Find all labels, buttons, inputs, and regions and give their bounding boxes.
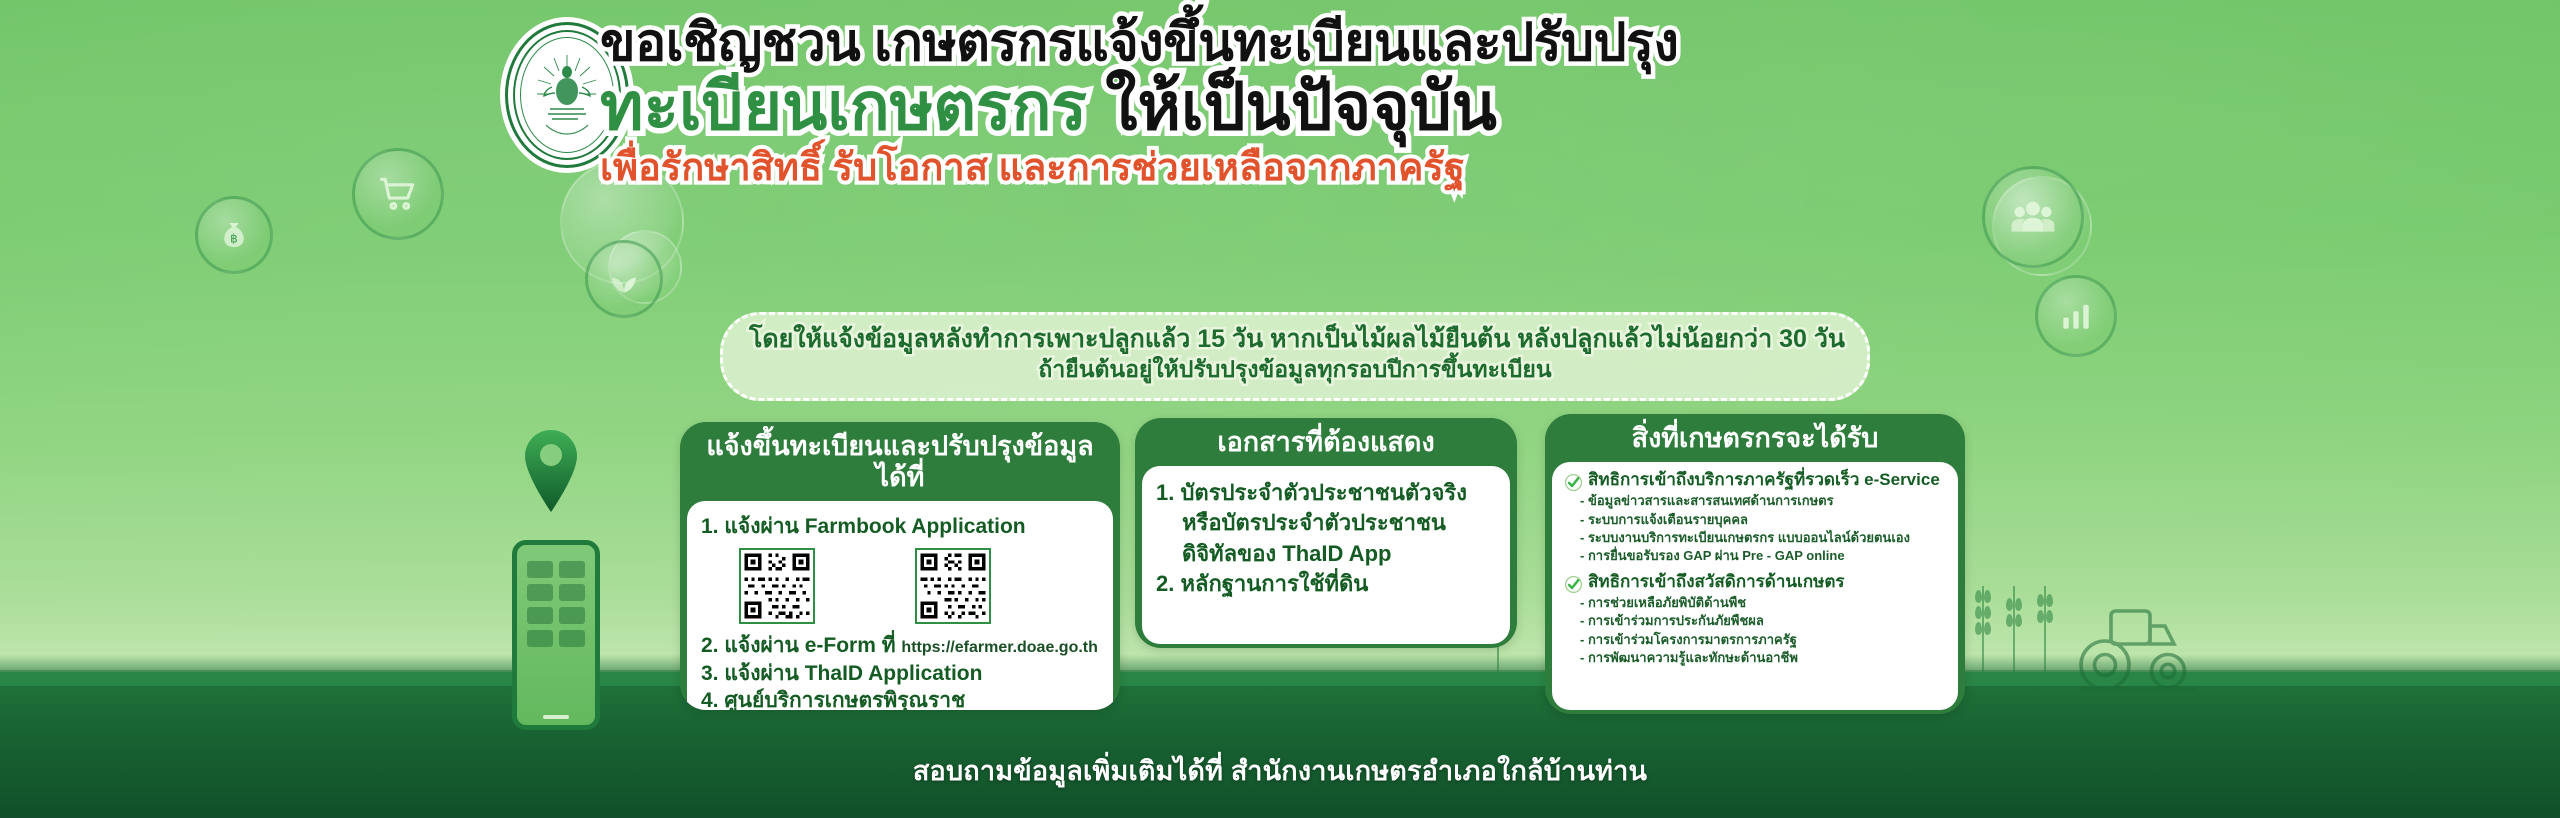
card-benefits-heading: สิ่งที่เกษตรกรจะได้รับ [1545, 414, 1965, 462]
benefit-group-2-title: สิทธิการเข้าถึงสวัสดิการด้านเกษตร [1588, 572, 1845, 592]
card-register-body: 1. แจ้งผ่าน Farmbook Application [687, 501, 1113, 710]
benefit-1-bullet-3: - ระบบงานบริการทะเบียนเกษตรกร แบบออนไลน์… [1564, 529, 1946, 547]
title-line-1: ขอเชิญชวน เกษตรกรแจ้งขึ้นทะเบียนและปรับป… [600, 14, 2440, 72]
app-tile [527, 607, 553, 624]
card-documents-heading: เอกสารที่ต้องแสดง [1135, 418, 1517, 466]
benefit-2-bullet-2: - การเข้าร่วมการประกันภัยพืชผล [1564, 612, 1946, 630]
qr-row: Android [739, 548, 1099, 624]
app-tile [559, 630, 585, 647]
document-item-1a: 1. บัตรประจำตัวประชาชนตัวจริง [1156, 478, 1496, 508]
benefit-1-bullet-2: - ระบบการแจ้งเตือนรายบุคคล [1564, 511, 1946, 529]
phone-home-indicator [543, 715, 569, 719]
card-required-documents: เอกสารที่ต้องแสดง 1. บัตรประจำตัวประชาชน… [1135, 418, 1517, 648]
smartphone-icon [512, 540, 600, 730]
efarmer-url[interactable]: https://efarmer.doae.go.th [901, 639, 1097, 656]
qr-ios-group[interactable]: iOS [915, 548, 1043, 624]
title-line-2-green: ทะเบียนเกษตรกร [600, 69, 1087, 143]
benefit-group-1-title: สิทธิการเข้าถึงบริการภาครัฐที่รวดเร็ว e-… [1588, 470, 1940, 490]
app-tile [559, 607, 585, 624]
wheat-icon [1975, 586, 1991, 672]
card-register-channels: แจ้งขึ้นทะเบียนและปรับปรุงข้อมูลได้ที่ 1… [680, 422, 1120, 710]
register-item-2: 2. แจ้งผ่าน e-Form ที่ https://efarmer.d… [701, 632, 1099, 660]
app-tile [527, 584, 553, 601]
benefit-1-bullet-4: - การยื่นขอรับรอง GAP ผ่าน Pre - GAP onl… [1564, 547, 1946, 565]
document-item-1b: หรือบัตรประจำตัวประชาชน [1156, 508, 1496, 538]
app-tile [559, 561, 585, 578]
document-item-1c: ดิจิทัลของ ThaID App [1156, 539, 1496, 569]
note-banner: โดยให้แจ้งข้อมูลหลังทำการเพาะปลูกแล้ว 15… [720, 312, 1870, 401]
check-mark-icon [1564, 575, 1583, 594]
register-item-2-prefix: 2. แจ้งผ่าน e-Form ที่ [701, 634, 901, 657]
benefit-group-2-head: สิทธิการเข้าถึงสวัสดิการด้านเกษตร [1564, 572, 1946, 594]
header: ขอเชิญชวน เกษตรกรแจ้งขึ้นทะเบียนและปรับป… [0, 0, 2560, 300]
wheat-icon [2006, 586, 2022, 672]
card-benefits-body: สิทธิการเข้าถึงบริการภาครัฐที่รวดเร็ว e-… [1552, 462, 1958, 710]
register-item-3: 3. แจ้งผ่าน ThaID Application [701, 660, 1099, 688]
app-tile [527, 561, 553, 578]
title-line-2: ทะเบียนเกษตรกร ให้เป็นปัจจุบัน [600, 70, 2440, 143]
phone-app-grid [517, 545, 595, 663]
note-line-2: ถ้ายืนต้นอยู่ให้ปรับปรุงข้อมูลทุกรอบปีกา… [749, 355, 1841, 385]
benefit-2-bullet-3: - การเข้าร่วมโครงการมาตรการภาครัฐ [1564, 631, 1946, 649]
wheat-icon [2037, 586, 2053, 672]
qr-android-group[interactable]: Android [739, 548, 899, 624]
wheat-cluster-right [1975, 586, 2053, 672]
title-line-3: เพื่อรักษาสิทธิ์ รับโอกาส และการช่วยเหลื… [600, 147, 2440, 191]
card-register-heading: แจ้งขึ้นทะเบียนและปรับปรุงข้อมูลได้ที่ [680, 422, 1120, 501]
check-mark-icon [1564, 473, 1583, 492]
footer-contact-text: สอบถามข้อมูลเพิ่มเติมได้ที่ สำนักงานเกษต… [913, 749, 1647, 792]
document-item-2: 2. หลักฐานการใช้ที่ดิน [1156, 569, 1496, 599]
note-line-1: โดยให้แจ้งข้อมูลหลังทำการเพาะปลูกแล้ว 15… [749, 324, 1841, 355]
banner-root: ฿ [0, 0, 2560, 818]
benefit-group-1-head: สิทธิการเข้าถึงบริการภาครัฐที่รวดเร็ว e-… [1564, 470, 1946, 492]
benefit-2-bullet-1: - การช่วยเหลือภัยพิบัติด้านพืช [1564, 594, 1946, 612]
card-documents-body: 1. บัตรประจำตัวประชาชนตัวจริง หรือบัตรปร… [1142, 466, 1510, 644]
benefit-1-bullet-1: - ข้อมูลข่าวสารและสารสนเทศด้านการเกษตร [1564, 492, 1946, 510]
qr-code-android[interactable] [739, 548, 815, 624]
footer-bar: สอบถามข้อมูลเพิ่มเติมได้ที่ สำนักงานเกษต… [0, 722, 2560, 818]
register-item-4: 4. ศูนย์บริการเกษตรพิรุณราช [701, 687, 1099, 710]
tractor-icon [2060, 560, 2210, 710]
register-item-1: 1. แจ้งผ่าน Farmbook Application [701, 513, 1099, 541]
card-farmer-benefits: สิ่งที่เกษตรกรจะได้รับ สิทธิการเข้าถึงบร… [1545, 414, 1965, 714]
app-tile [559, 584, 585, 601]
location-pin-icon [520, 428, 582, 514]
qr-code-ios[interactable] [915, 548, 991, 624]
app-tile [527, 630, 553, 647]
android-store-label[interactable]: Android [805, 572, 899, 599]
benefit-2-bullet-4: - การพัฒนาความรู้และทักษะด้านอาชีพ [1564, 649, 1946, 667]
title-line-2-dark: ให้เป็นปัจจุบัน [1105, 69, 1497, 143]
title-block: ขอเชิญชวน เกษตรกรแจ้งขึ้นทะเบียนและปรับป… [600, 14, 2440, 191]
